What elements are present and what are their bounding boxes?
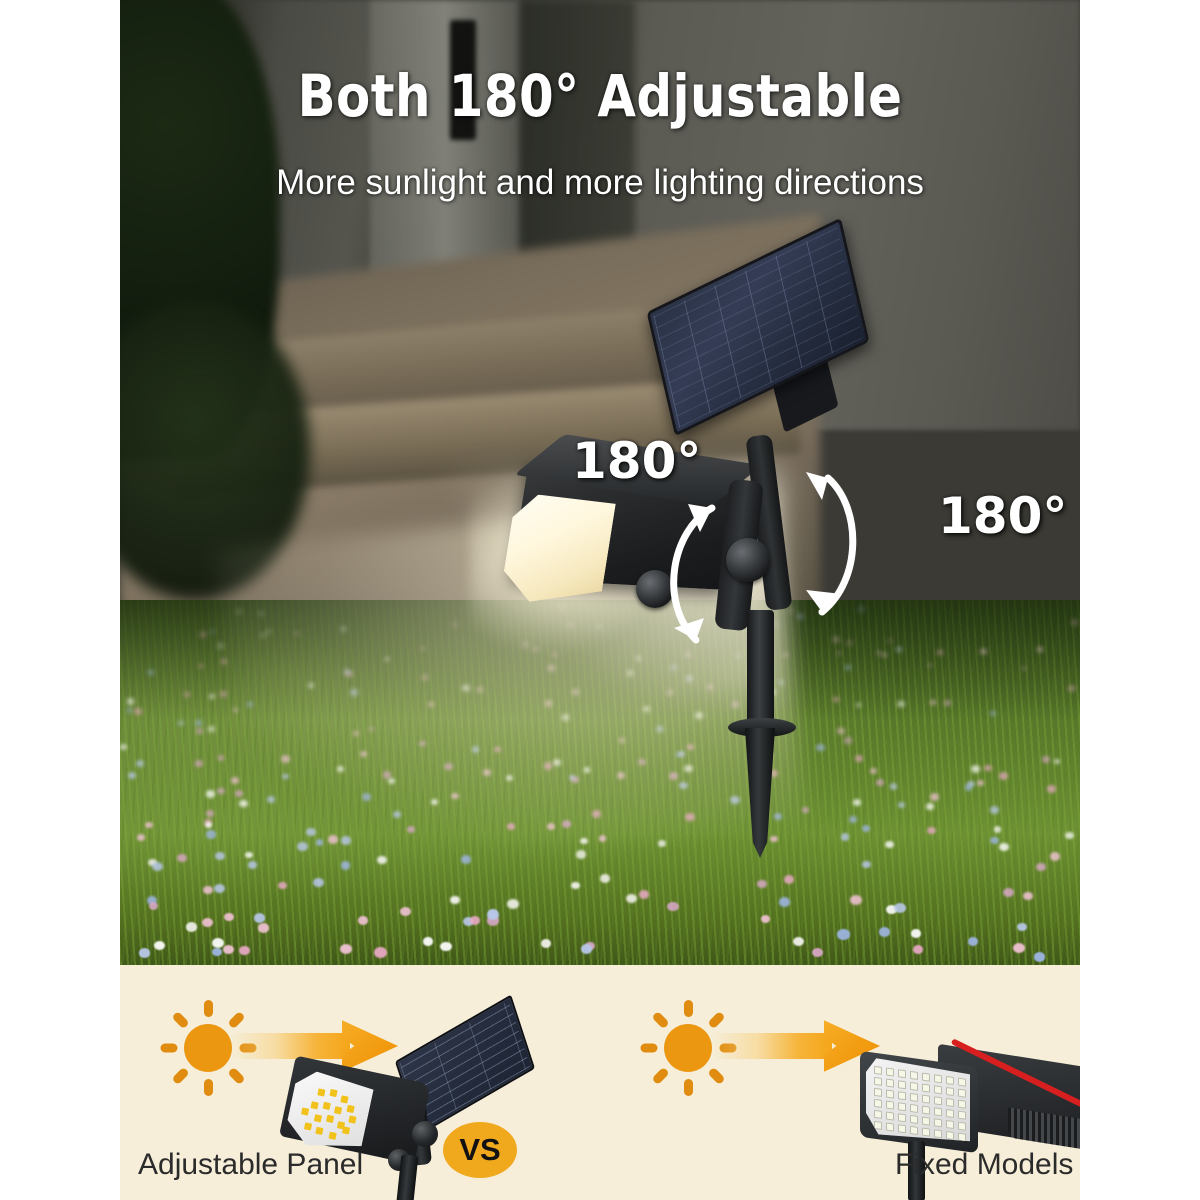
flower <box>837 929 849 939</box>
led-chip <box>958 1133 966 1142</box>
flower <box>328 835 338 844</box>
led-chip <box>886 1079 894 1088</box>
led-chip <box>304 1122 312 1130</box>
led-chip <box>326 1115 334 1123</box>
sun-ray <box>171 1011 189 1029</box>
flower <box>450 896 459 904</box>
flower <box>1017 923 1027 931</box>
flower <box>178 721 183 726</box>
led-chip <box>934 1085 942 1094</box>
flower <box>928 664 932 668</box>
led-chip <box>922 1128 930 1137</box>
flower <box>440 942 452 952</box>
angle-badge-right: 180° <box>938 487 1067 545</box>
led-chip <box>946 1076 954 1085</box>
flower <box>388 778 395 784</box>
sun-core <box>664 1024 712 1072</box>
led-chip <box>314 1114 322 1122</box>
solar-spotlight-photo <box>500 250 900 900</box>
flower <box>930 793 939 801</box>
flower <box>282 774 288 779</box>
flower <box>1023 892 1032 900</box>
flower <box>139 948 150 958</box>
image-content: Both 180° Adjustable More sunlight and m… <box>120 0 1080 1200</box>
led-chip <box>922 1073 930 1082</box>
flower <box>385 657 390 661</box>
product-marketing-image: Both 180° Adjustable More sunlight and m… <box>0 0 1200 1200</box>
flower <box>400 907 411 916</box>
pivot-knob-upper <box>726 538 770 582</box>
flower <box>195 760 203 766</box>
flower <box>212 948 222 956</box>
flower <box>341 836 351 845</box>
led-chip <box>346 1105 354 1113</box>
flower <box>200 632 206 637</box>
flower <box>235 790 243 797</box>
flower <box>350 689 358 695</box>
sun-ray <box>640 1044 657 1053</box>
led-chip <box>874 1066 882 1075</box>
led-chip <box>886 1101 894 1110</box>
led-chip <box>910 1071 918 1080</box>
led-chip <box>946 1109 954 1118</box>
led-chip <box>317 1088 325 1096</box>
arrow-right-icon <box>712 1018 877 1074</box>
flower <box>316 839 324 846</box>
flower <box>444 763 452 770</box>
flower <box>383 771 392 778</box>
flower <box>487 910 499 920</box>
flower <box>431 799 438 805</box>
led-chip <box>334 1106 342 1114</box>
led-chip <box>898 1102 906 1111</box>
flower <box>483 769 491 775</box>
led-chip <box>874 1099 882 1108</box>
flower <box>306 828 315 836</box>
flower <box>419 741 425 746</box>
flower <box>297 842 308 851</box>
sun-ray <box>171 1067 189 1085</box>
led-chip <box>898 1069 906 1078</box>
flower <box>137 834 145 840</box>
flower <box>971 765 980 773</box>
flower <box>313 878 324 887</box>
flower <box>913 945 923 954</box>
flower <box>281 755 290 762</box>
led-chip <box>934 1074 942 1083</box>
flower <box>1034 952 1045 962</box>
pivot-knob-upper <box>412 1121 438 1147</box>
led-chip <box>348 1115 356 1123</box>
flower <box>202 918 213 927</box>
flower <box>667 902 678 912</box>
flower <box>239 946 249 955</box>
angle-badge-left: 180° <box>572 432 701 490</box>
led-chip <box>329 1089 337 1097</box>
sun-ray <box>204 1000 213 1017</box>
flower <box>428 702 434 707</box>
flower <box>212 938 224 948</box>
led-chip <box>910 1104 918 1113</box>
led-chip <box>958 1111 966 1120</box>
flower <box>134 708 142 715</box>
flower <box>944 700 951 706</box>
flower <box>423 937 433 945</box>
flower <box>879 927 890 937</box>
page-title: Both 180° Adjustable <box>187 62 1013 130</box>
flower <box>965 784 972 790</box>
led-chip <box>315 1127 323 1135</box>
flower <box>911 929 922 938</box>
sun-ray <box>684 1079 693 1096</box>
sun-ray <box>651 1067 669 1085</box>
flower <box>120 744 127 750</box>
led-chip <box>922 1117 930 1126</box>
sun-ray <box>684 1000 693 1017</box>
led-chip <box>886 1123 894 1132</box>
mount-pole <box>747 610 774 735</box>
flower <box>1036 863 1046 871</box>
flower <box>930 700 935 705</box>
flower <box>461 855 472 864</box>
flower <box>1068 686 1074 691</box>
led-chip <box>886 1068 894 1077</box>
led-chip <box>310 1101 318 1109</box>
led-chip <box>898 1113 906 1122</box>
led-chip <box>874 1110 882 1119</box>
flower <box>148 670 153 674</box>
flower <box>215 852 225 860</box>
flower <box>209 694 215 699</box>
flower <box>341 627 346 631</box>
led-chip <box>958 1089 966 1098</box>
flower <box>196 728 203 734</box>
led-chip <box>946 1131 954 1140</box>
flower <box>211 630 215 633</box>
led-chip <box>910 1093 918 1102</box>
led-chip <box>874 1077 882 1086</box>
led-chip <box>958 1100 966 1109</box>
led-chip <box>934 1107 942 1116</box>
led-chip <box>328 1132 336 1140</box>
led-chip <box>946 1098 954 1107</box>
flower <box>980 649 986 654</box>
flower <box>231 777 239 784</box>
led-chip <box>898 1080 906 1089</box>
led-chip <box>342 1126 350 1134</box>
led-chip <box>934 1129 942 1138</box>
led-chip <box>946 1120 954 1129</box>
led-chip <box>946 1087 954 1096</box>
flower <box>1047 785 1056 793</box>
led-chip <box>958 1078 966 1087</box>
led-chip <box>886 1112 894 1121</box>
flower <box>217 788 224 794</box>
led-chip <box>874 1088 882 1097</box>
flower <box>184 692 190 697</box>
flower <box>245 852 253 859</box>
flower <box>248 861 257 868</box>
flower <box>927 827 936 834</box>
flower <box>937 650 943 655</box>
flower <box>128 772 136 778</box>
flower <box>136 760 144 767</box>
led-chip <box>922 1095 930 1104</box>
flower <box>214 884 225 893</box>
flower <box>358 916 368 925</box>
sun-ray <box>160 1044 177 1053</box>
flower <box>346 671 353 677</box>
led-chip <box>922 1084 930 1093</box>
flower <box>407 826 416 833</box>
led-chip <box>323 1102 331 1110</box>
led-chip <box>340 1095 348 1103</box>
led-chip <box>301 1107 309 1115</box>
flower <box>793 937 804 946</box>
flower <box>341 861 351 869</box>
flower <box>1037 647 1042 651</box>
led-chip <box>910 1115 918 1124</box>
flower <box>254 913 265 922</box>
flower <box>195 720 202 726</box>
pivot-knob-lower <box>636 570 674 608</box>
flower <box>237 610 241 613</box>
led-chip <box>958 1122 966 1131</box>
led-chip <box>874 1121 882 1130</box>
flower <box>374 947 387 958</box>
sun-core <box>184 1024 232 1072</box>
flower <box>308 683 314 688</box>
flower <box>199 664 203 668</box>
sun-ray <box>651 1011 669 1029</box>
label-fixed-models: Fixed Models <box>895 1148 1073 1182</box>
led-chip <box>934 1118 942 1127</box>
flower <box>206 790 216 798</box>
flower <box>894 903 906 913</box>
flower <box>581 944 593 954</box>
led-chip <box>898 1124 906 1133</box>
led-chip <box>898 1091 906 1100</box>
led-chip <box>910 1082 918 1091</box>
hero-photo: Both 180° Adjustable More sunlight and m… <box>120 0 1080 965</box>
led-chip <box>910 1126 918 1135</box>
vs-badge: VS <box>443 1122 517 1178</box>
flower <box>239 800 248 807</box>
led-chip <box>922 1106 930 1115</box>
arrow-tail <box>712 1033 832 1059</box>
flower <box>472 746 479 752</box>
flower <box>337 766 344 772</box>
led-chip <box>886 1090 894 1099</box>
flower <box>203 886 213 894</box>
flower <box>990 711 996 716</box>
label-adjustable-panel: Adjustable Panel <box>138 1148 363 1182</box>
ground-stake <box>745 728 775 858</box>
led-chip <box>934 1096 942 1105</box>
flower <box>926 803 934 809</box>
flower <box>1072 620 1078 625</box>
flower <box>1050 852 1060 861</box>
flower <box>208 726 215 732</box>
page-subtitle: More sunlight and more lighting directio… <box>120 163 1080 203</box>
sun-ray <box>204 1079 213 1096</box>
